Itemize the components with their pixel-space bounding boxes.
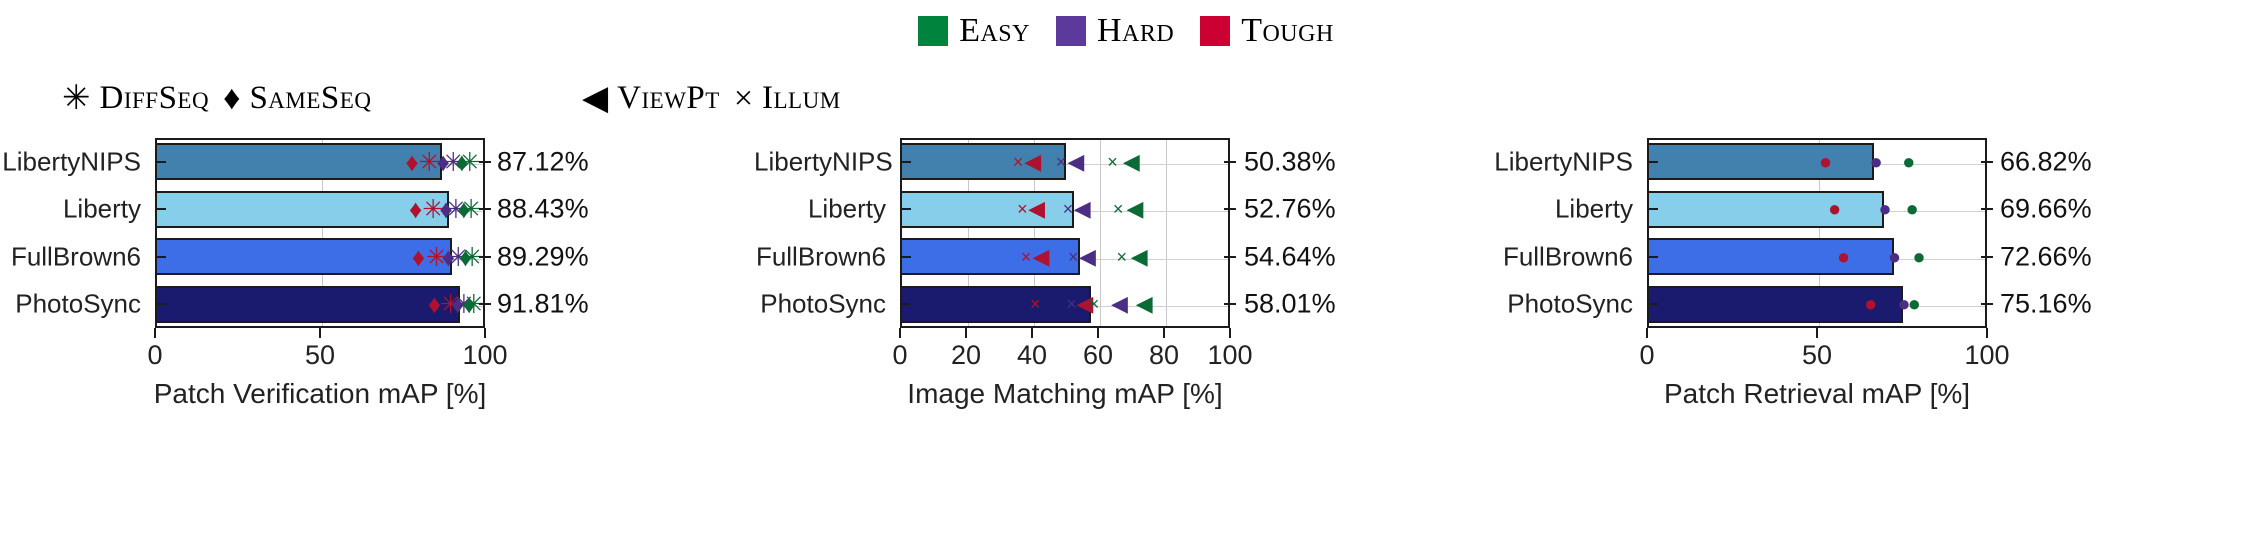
y-tick-mark	[155, 208, 166, 210]
x-tick-label: 0	[892, 340, 907, 371]
y-axis-label-libertynips: LibertyNIPS	[1493, 146, 1633, 177]
x-tick-label: 50	[305, 340, 335, 371]
purple-square-icon	[1056, 16, 1086, 46]
bar-liberty	[900, 191, 1074, 228]
y-axis-label-liberty: Liberty	[1493, 194, 1633, 225]
x-tick-label: 40	[1017, 340, 1047, 371]
y-tick-mark	[155, 161, 166, 163]
value-label-libertynips: 50.38%	[1244, 146, 1336, 177]
asterisk-icon: ✳	[62, 82, 91, 116]
y-tick-mark	[900, 208, 911, 210]
value-tick	[1981, 303, 1993, 305]
y-tick-mark	[900, 256, 911, 258]
value-label-photosync: 58.01%	[1244, 289, 1336, 320]
cross-icon: ×	[734, 82, 753, 116]
bar-fullbrown6	[155, 238, 452, 275]
legend-label-viewpt: ViewPt	[617, 80, 720, 117]
legend-label-easy: Easy	[959, 14, 1030, 48]
chart-patch-retrieval: LibertyNIPS●●●66.82%Liberty●●●69.66%Full…	[1500, 128, 2252, 548]
y-tick-mark	[155, 303, 166, 305]
value-label-fullbrown6: 72.66%	[2000, 241, 2092, 272]
legend-label-sameseq: SameSeq	[249, 80, 371, 117]
value-label-libertynips: 87.12%	[497, 146, 589, 177]
x-tick-label: 100	[462, 340, 507, 371]
x-tick-mark	[1163, 328, 1165, 338]
legend-item-viewpt: ◀ ViewPt	[582, 80, 720, 117]
x-tick-label: 80	[1149, 340, 1179, 371]
y-axis-label-libertynips: LibertyNIPS	[754, 146, 886, 177]
value-label-libertynips: 66.82%	[2000, 146, 2092, 177]
y-tick-mark	[1647, 256, 1658, 258]
value-tick	[1981, 161, 1993, 163]
y-tick-mark	[1647, 161, 1658, 163]
bar-photosync	[155, 286, 460, 323]
x-tick-label: 100	[1964, 340, 2009, 371]
value-label-liberty: 88.43%	[497, 194, 589, 225]
x-tick-mark	[1097, 328, 1099, 338]
chart-patch-verification: LibertyNIPS♦✳♦✳♦✳87.12%Liberty♦✳♦✳♦✳88.4…	[0, 128, 760, 548]
left-triangle-icon: ◀	[582, 82, 608, 116]
legend-entry-easy: Easy	[918, 14, 1030, 48]
x-tick-label: 50	[1802, 340, 1832, 371]
viewpoint-marker-legend: ◀ ViewPt × Illum	[582, 80, 841, 117]
value-label-fullbrown6: 54.64%	[1244, 241, 1336, 272]
y-axis-label-fullbrown6: FullBrown6	[0, 241, 141, 272]
value-tick	[1224, 256, 1236, 258]
value-tick	[1224, 208, 1236, 210]
y-axis-label-fullbrown6: FullBrown6	[754, 241, 886, 272]
y-axis-label-libertynips: LibertyNIPS	[0, 146, 141, 177]
legend-item-illum: × Illum	[734, 80, 841, 117]
bar-liberty	[155, 191, 449, 228]
x-tick-mark	[484, 328, 486, 338]
bar-photosync	[900, 286, 1091, 323]
legend-label-illum: Illum	[762, 80, 841, 117]
legend-label-diffseq: DiffSeq	[100, 80, 210, 117]
value-tick	[479, 161, 491, 163]
diamond-icon: ♦	[223, 82, 240, 116]
bar-libertynips	[900, 143, 1066, 180]
difficulty-legend: Easy Hard Tough	[0, 14, 2252, 48]
x-tick-mark	[899, 328, 901, 338]
x-tick-mark	[319, 328, 321, 338]
bar-fullbrown6	[1647, 238, 1894, 275]
value-label-liberty: 69.66%	[2000, 194, 2092, 225]
x-tick-label: 0	[147, 340, 162, 371]
x-tick-mark	[1646, 328, 1648, 338]
legend-entry-tough: Tough	[1200, 14, 1334, 48]
x-axis-title: Patch Retrieval mAP [%]	[1664, 378, 1970, 410]
x-tick-mark	[1031, 328, 1033, 338]
value-label-photosync: 75.16%	[2000, 289, 2092, 320]
y-axis-label-photosync: PhotoSync	[0, 289, 141, 320]
value-label-liberty: 52.76%	[1244, 194, 1336, 225]
chart-image-matching: LibertyNIPS×◀×◀×◀50.38%Liberty×◀×◀×◀52.7…	[760, 128, 1500, 548]
sequence-marker-legend: ✳ DiffSeq ♦ SameSeq	[62, 80, 371, 117]
value-tick	[479, 303, 491, 305]
x-tick-mark	[1986, 328, 1988, 338]
y-tick-mark	[1647, 208, 1658, 210]
x-tick-label: 60	[1083, 340, 1113, 371]
value-tick	[479, 208, 491, 210]
bar-photosync	[1647, 286, 1903, 323]
y-axis-label-photosync: PhotoSync	[754, 289, 886, 320]
bar-liberty	[1647, 191, 1884, 228]
y-tick-mark	[900, 161, 911, 163]
x-axis-title: Image Matching mAP [%]	[907, 378, 1222, 410]
value-tick	[1981, 208, 1993, 210]
value-label-photosync: 91.81%	[497, 289, 589, 320]
bar-libertynips	[1647, 143, 1874, 180]
x-tick-mark	[1229, 328, 1231, 338]
x-tick-mark	[154, 328, 156, 338]
y-axis-label-fullbrown6: FullBrown6	[1493, 241, 1633, 272]
red-square-icon	[1200, 16, 1230, 46]
x-tick-label: 20	[951, 340, 981, 371]
value-tick	[1224, 303, 1236, 305]
bar-fullbrown6	[900, 238, 1080, 275]
y-axis-label-photosync: PhotoSync	[1493, 289, 1633, 320]
x-tick-mark	[1816, 328, 1818, 338]
x-tick-mark	[965, 328, 967, 338]
y-tick-mark	[155, 256, 166, 258]
x-tick-label: 100	[1207, 340, 1252, 371]
y-axis-label-liberty: Liberty	[0, 194, 141, 225]
value-tick	[479, 256, 491, 258]
gridline	[1100, 140, 1101, 326]
value-tick	[1981, 256, 1993, 258]
value-label-fullbrown6: 89.29%	[497, 241, 589, 272]
green-square-icon	[918, 16, 948, 46]
legend-item-sameseq: ♦ SameSeq	[223, 80, 371, 117]
bar-libertynips	[155, 143, 442, 180]
legend-item-diffseq: ✳ DiffSeq	[62, 80, 209, 117]
gridline	[1166, 140, 1167, 326]
legend-label-hard: Hard	[1097, 14, 1174, 48]
legend-label-tough: Tough	[1241, 14, 1334, 48]
x-tick-label: 0	[1639, 340, 1654, 371]
legend-entry-hard: Hard	[1056, 14, 1174, 48]
value-tick	[1224, 161, 1236, 163]
x-axis-title: Patch Verification mAP [%]	[154, 378, 487, 410]
y-axis-label-liberty: Liberty	[754, 194, 886, 225]
y-tick-mark	[900, 303, 911, 305]
y-tick-mark	[1647, 303, 1658, 305]
